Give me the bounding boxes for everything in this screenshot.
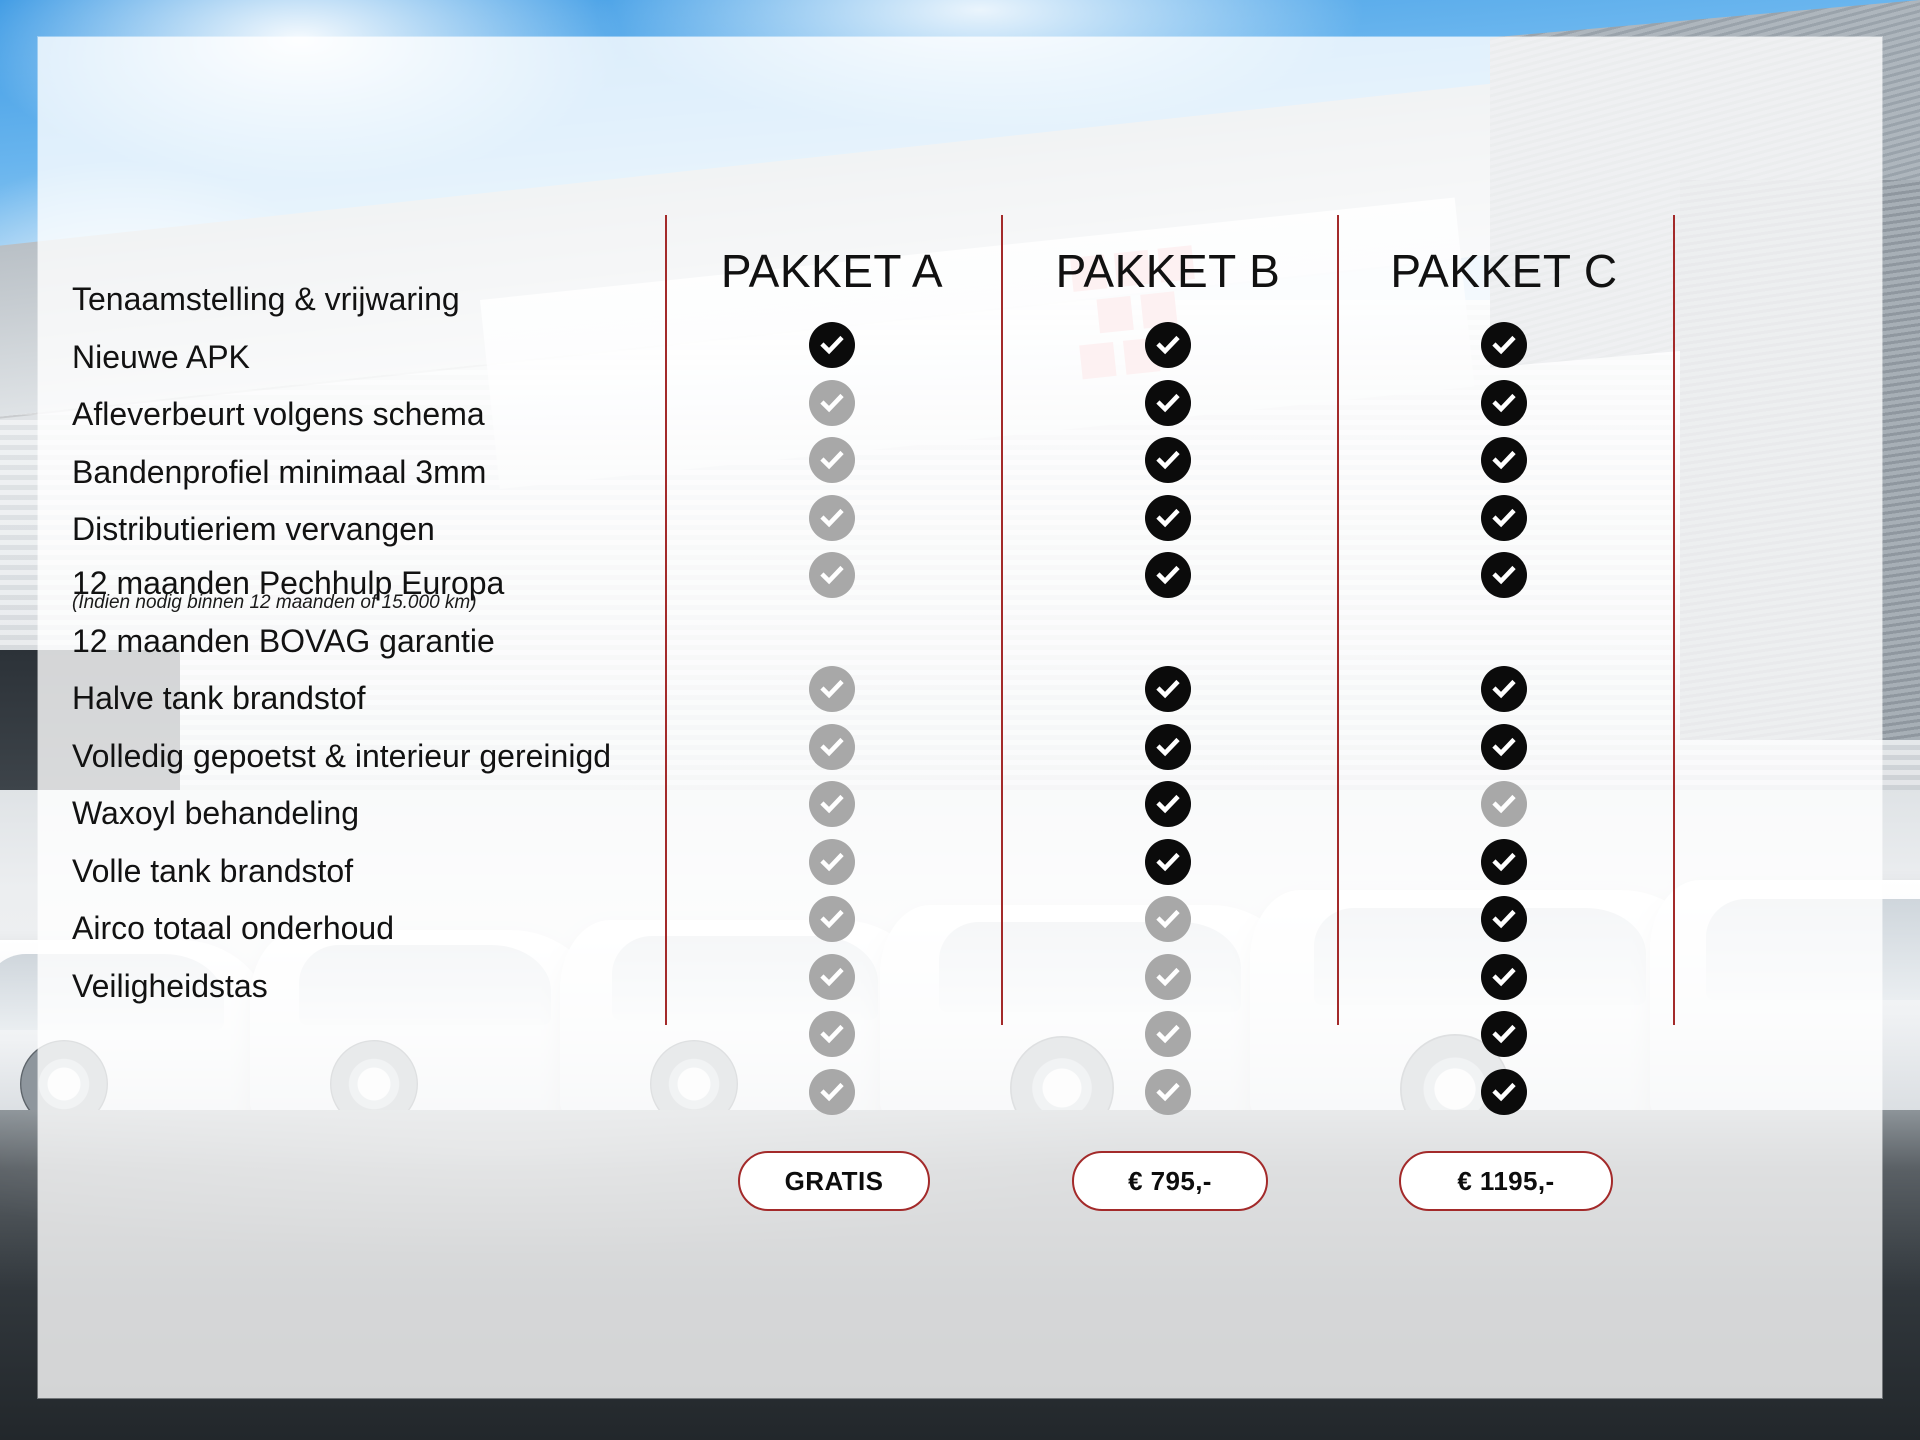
check-mark-icon: [809, 1069, 855, 1115]
feature-label: 12 maanden BOVAG garantie: [72, 625, 495, 657]
check-mark-icon: [1145, 724, 1191, 770]
check-mark-icon: [1145, 954, 1191, 1000]
check-mark-icon: [1145, 896, 1191, 942]
column-header-b: PAKKET B: [1003, 244, 1333, 298]
price-button-c[interactable]: € 1195,-: [1399, 1151, 1613, 1211]
check-mark-icon: [809, 437, 855, 483]
check-mark-icon: [809, 322, 855, 368]
feature-label: Afleverbeurt volgens schema: [72, 398, 485, 430]
feature-label: Nieuwe APK: [72, 341, 250, 373]
column-divider-4: [1673, 215, 1675, 1025]
comparison-card: PAKKET APAKKET BPAKKET CTenaamstelling &…: [38, 37, 1882, 1398]
check-mark-icon: [1481, 437, 1527, 483]
check-mark-icon: [809, 1011, 855, 1057]
feature-label: Airco totaal onderhoud: [72, 912, 394, 944]
check-mark-icon: [1481, 380, 1527, 426]
check-mark-icon: [1145, 495, 1191, 541]
feature-label: Volledig gepoetst & interieur gereinigd: [72, 740, 611, 772]
check-mark-icon: [1481, 896, 1527, 942]
check-mark-icon: [809, 495, 855, 541]
column-divider-2: [1001, 215, 1003, 1025]
check-mark-icon: [1481, 1011, 1527, 1057]
check-mark-icon: [1145, 1069, 1191, 1115]
check-mark-icon: [1145, 839, 1191, 885]
check-mark-icon: [809, 896, 855, 942]
check-mark-icon: [809, 724, 855, 770]
check-mark-icon: [1145, 552, 1191, 598]
feature-label: 12 maanden Pechhulp Europa: [72, 567, 504, 599]
check-mark-icon: [1145, 322, 1191, 368]
check-mark-icon: [1481, 954, 1527, 1000]
column-header-a: PAKKET A: [667, 244, 997, 298]
feature-label: Veiligheidstas: [72, 970, 268, 1002]
check-mark-icon: [1481, 495, 1527, 541]
column-divider-3: [1337, 215, 1339, 1025]
feature-label: Tenaamstelling & vrijwaring: [72, 283, 460, 315]
check-mark-icon: [1481, 1069, 1527, 1115]
column-header-c: PAKKET C: [1339, 244, 1669, 298]
feature-label: Halve tank brandstof: [72, 682, 366, 714]
pricing-comparison-screen: PAKKET APAKKET BPAKKET CTenaamstelling &…: [0, 0, 1920, 1440]
feature-label: Volle tank brandstof: [72, 855, 353, 887]
check-mark-icon: [1481, 666, 1527, 712]
check-mark-icon: [1481, 781, 1527, 827]
check-mark-icon: [809, 954, 855, 1000]
check-mark-icon: [1145, 781, 1191, 827]
check-mark-icon: [1145, 437, 1191, 483]
feature-label: Waxoyl behandeling: [72, 797, 359, 829]
check-mark-icon: [809, 552, 855, 598]
check-mark-icon: [809, 666, 855, 712]
check-mark-icon: [1481, 552, 1527, 598]
check-mark-icon: [809, 839, 855, 885]
price-button-a[interactable]: GRATIS: [738, 1151, 930, 1211]
check-mark-icon: [1145, 380, 1191, 426]
column-divider-1: [665, 215, 667, 1025]
package-comparison-table: PAKKET APAKKET BPAKKET CTenaamstelling &…: [38, 37, 1882, 1398]
check-mark-icon: [1481, 839, 1527, 885]
check-mark-icon: [1481, 322, 1527, 368]
check-mark-icon: [809, 380, 855, 426]
check-mark-icon: [1481, 724, 1527, 770]
check-mark-icon: [1145, 1011, 1191, 1057]
price-button-b[interactable]: € 795,-: [1072, 1151, 1268, 1211]
check-mark-icon: [809, 781, 855, 827]
check-mark-icon: [1145, 666, 1191, 712]
feature-label: Distributieriem vervangen: [72, 513, 435, 545]
feature-label: Bandenprofiel minimaal 3mm: [72, 456, 486, 488]
